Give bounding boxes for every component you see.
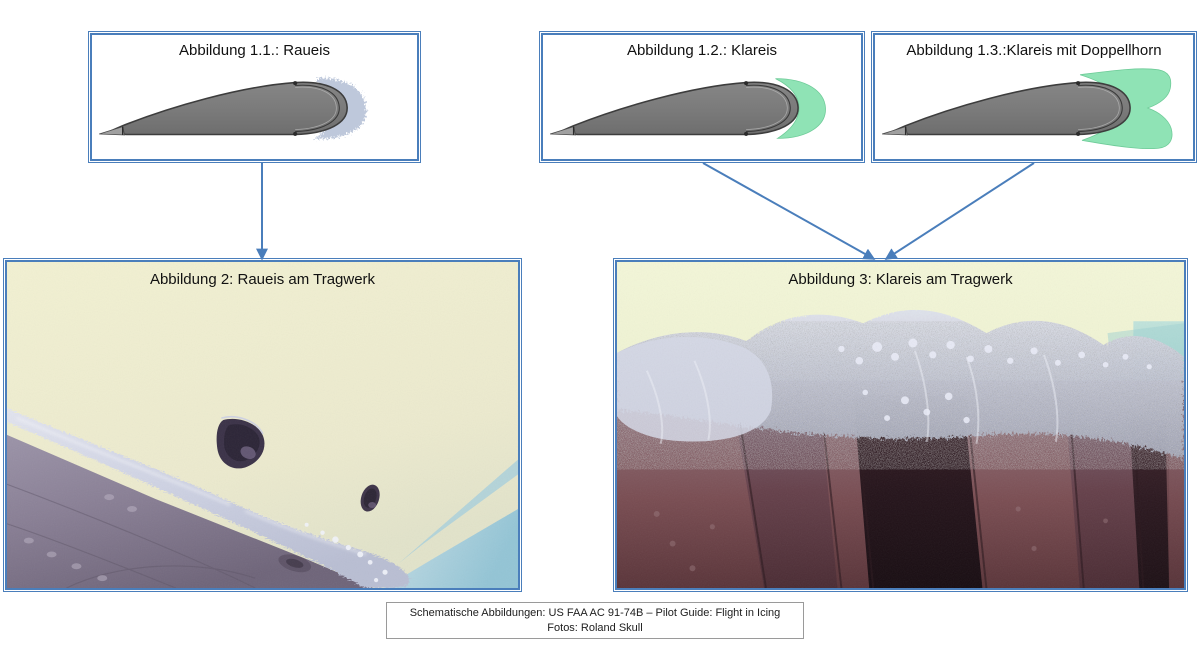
connector-doppelhorn-to-photo3: [886, 163, 1034, 259]
airfoil-diagram-klareis: [543, 61, 861, 159]
schematic-title-raueis: Abbildung 1.1.: Raueis: [92, 41, 417, 60]
credits-box: Schematische Abbildungen: US FAA AC 91-7…: [386, 602, 804, 639]
photo-raueis-tragwerk-image: [7, 262, 518, 588]
photo-box-raueis-tragwerk: Abbildung 2: Raueis am Tragwerk: [3, 258, 522, 592]
airfoil-diagram-raueis: [92, 61, 417, 159]
photo-box-klareis-tragwerk: Abbildung 3: Klareis am Tragwerk: [613, 258, 1188, 592]
credits-line-schematics: Schematische Abbildungen: US FAA AC 91-7…: [387, 606, 803, 621]
airfoil-diagram-doppelhorn: [875, 61, 1193, 159]
photo-title-raueis-tragwerk: Abbildung 2: Raueis am Tragwerk: [7, 270, 518, 289]
schematic-box-klareis: Abbildung 1.2.: Klareis: [539, 31, 865, 163]
schematic-title-klareis: Abbildung 1.2.: Klareis: [543, 41, 861, 60]
photo-klareis-tragwerk-image: [617, 262, 1184, 588]
schematic-box-doppelhorn: Abbildung 1.3.:Klareis mit Doppellhorn: [871, 31, 1197, 163]
schematic-box-raueis: Abbildung 1.1.: Raueis: [88, 31, 421, 163]
credits-line-photos: Fotos: Roland Skull: [387, 621, 803, 636]
schematic-title-doppelhorn: Abbildung 1.3.:Klareis mit Doppellhorn: [875, 41, 1193, 60]
photo-title-klareis-tragwerk: Abbildung 3: Klareis am Tragwerk: [617, 270, 1184, 289]
connector-klareis-to-photo3: [703, 163, 874, 259]
